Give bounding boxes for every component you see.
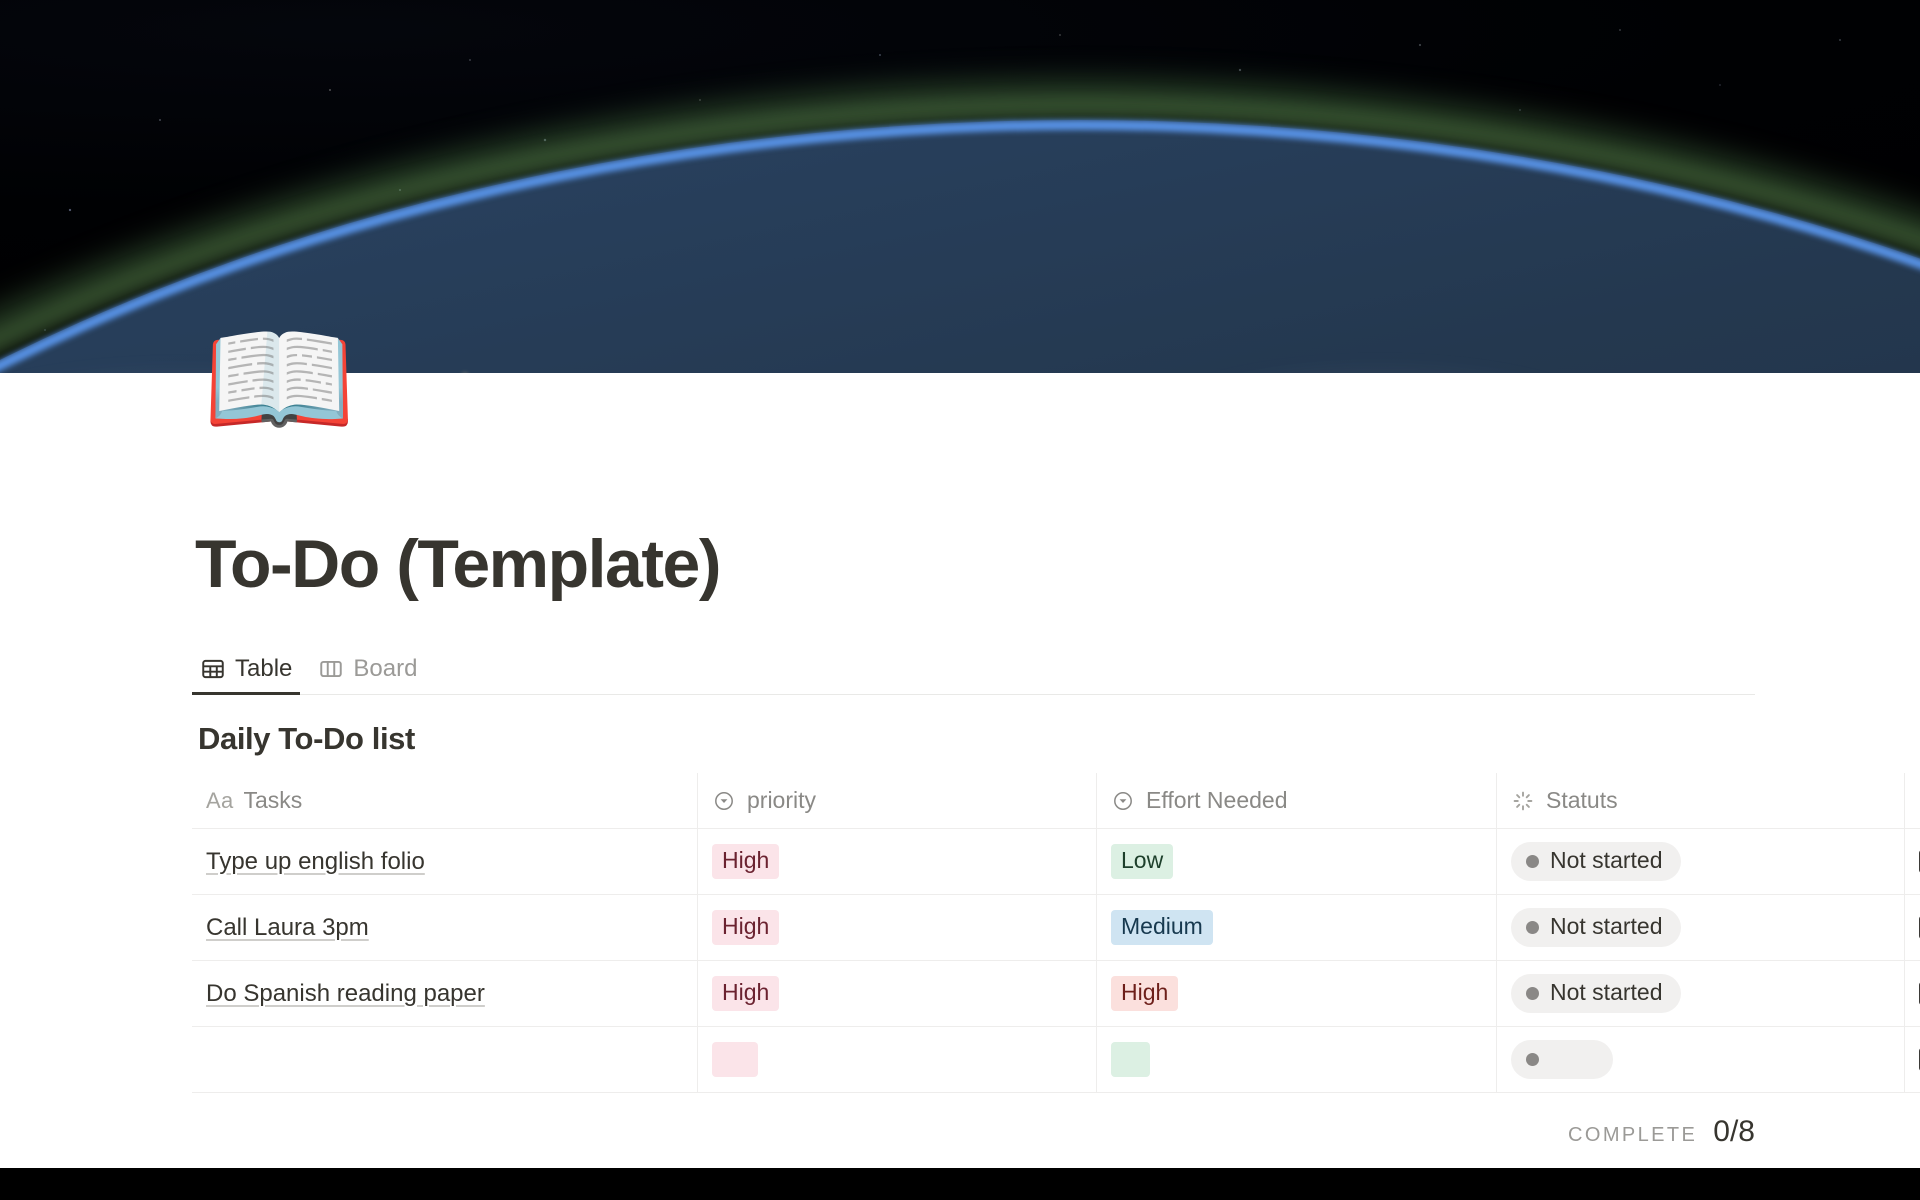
status-dot-icon [1526, 921, 1539, 934]
board-columns-icon [318, 656, 344, 682]
priority-pill: High [712, 976, 779, 1012]
complete-label: COMPLETE [1568, 1124, 1697, 1147]
cell-status[interactable]: Not started [1497, 961, 1905, 1026]
table-row[interactable]: Call Laura 3pm High Medium Not started [192, 895, 1920, 961]
cell-priority[interactable]: High [698, 895, 1097, 960]
task-link[interactable]: Call Laura 3pm [206, 914, 369, 942]
table-row[interactable]: Type up english folio High Low Not start… [192, 829, 1920, 895]
page-title[interactable]: To-Do (Template) [195, 525, 720, 603]
column-header-priority-label: priority [747, 787, 816, 814]
priority-pill [712, 1042, 758, 1078]
cell-status[interactable]: Not started [1497, 895, 1905, 960]
cell-done-checkbox[interactable] [1905, 961, 1920, 1026]
cell-task[interactable]: Do Spanish reading paper [192, 961, 698, 1026]
column-header-statuts-label: Statuts [1546, 787, 1618, 814]
status-label: Not started [1550, 980, 1663, 1006]
priority-pill: High [712, 844, 779, 880]
tab-table-label: Table [235, 655, 292, 683]
notion-page: 📖 To-Do (Template) Table [0, 0, 1920, 1200]
status-dot-icon [1526, 1053, 1539, 1066]
priority-pill: High [712, 910, 779, 946]
status-badge [1511, 1040, 1613, 1080]
tab-board[interactable]: Board [310, 655, 425, 694]
page-content: To-Do (Template) Table [0, 373, 1920, 1168]
cell-priority[interactable]: High [698, 829, 1097, 894]
column-header-tasks[interactable]: Aa Tasks [192, 773, 698, 828]
table-icon [200, 656, 226, 682]
status-badge: Not started [1511, 974, 1681, 1014]
cell-done-checkbox[interactable] [1905, 895, 1920, 960]
column-header-statuts[interactable]: Statuts [1497, 773, 1905, 828]
status-dot-icon [1526, 987, 1539, 1000]
open-book-emoji-icon[interactable]: 📖 [202, 308, 346, 452]
complete-counter[interactable]: COMPLETE 0/8 [1568, 1115, 1755, 1149]
effort-pill [1111, 1042, 1150, 1078]
cell-status[interactable]: Not started [1497, 829, 1905, 894]
cell-effort[interactable]: Medium [1097, 895, 1497, 960]
tab-table[interactable]: Table [192, 655, 300, 694]
complete-value: 0/8 [1713, 1115, 1755, 1149]
status-badge: Not started [1511, 842, 1681, 882]
status-dot-icon [1526, 855, 1539, 868]
cell-task[interactable] [192, 1027, 698, 1092]
cell-done-checkbox[interactable] [1905, 829, 1920, 894]
database-table: Aa Tasks priority [192, 773, 1920, 1093]
effort-pill: High [1111, 976, 1178, 1012]
table-header-row: Aa Tasks priority [192, 773, 1920, 829]
column-header-tasks-label: Tasks [244, 787, 303, 814]
status-label: Not started [1550, 914, 1663, 940]
cell-priority[interactable] [698, 1027, 1097, 1092]
database-view-tabs: Table Board [192, 648, 1755, 695]
column-header-effort-needed-label: Effort Needed [1146, 787, 1288, 814]
task-link[interactable]: Do Spanish reading paper [206, 980, 485, 1008]
cell-task[interactable]: Type up english folio [192, 829, 698, 894]
status-label: Not started [1550, 848, 1663, 874]
bottom-black-bar [0, 1168, 1920, 1200]
column-header-checkbox[interactable] [1905, 773, 1920, 828]
cell-effort[interactable]: Low [1097, 829, 1497, 894]
select-chevron-circle-icon [712, 789, 736, 813]
cell-task[interactable]: Call Laura 3pm [192, 895, 698, 960]
status-badge: Not started [1511, 908, 1681, 948]
database-title[interactable]: Daily To-Do list [198, 721, 415, 757]
title-aa-icon: Aa [206, 788, 234, 814]
task-link[interactable]: Type up english folio [206, 848, 425, 876]
status-spinner-icon [1511, 789, 1535, 813]
cell-effort[interactable]: High [1097, 961, 1497, 1026]
effort-pill: Low [1111, 844, 1173, 880]
column-header-priority[interactable]: priority [698, 773, 1097, 828]
tab-board-label: Board [353, 655, 417, 683]
select-chevron-circle-icon [1111, 789, 1135, 813]
cell-effort[interactable] [1097, 1027, 1497, 1092]
cell-done-checkbox[interactable] [1905, 1027, 1920, 1092]
cell-priority[interactable]: High [698, 961, 1097, 1026]
column-header-effort-needed[interactable]: Effort Needed [1097, 773, 1497, 828]
table-row[interactable] [192, 1027, 1920, 1093]
cell-status[interactable] [1497, 1027, 1905, 1092]
status-label [1550, 1046, 1595, 1072]
table-row[interactable]: Do Spanish reading paper High High Not s… [192, 961, 1920, 1027]
effort-pill: Medium [1111, 910, 1213, 946]
